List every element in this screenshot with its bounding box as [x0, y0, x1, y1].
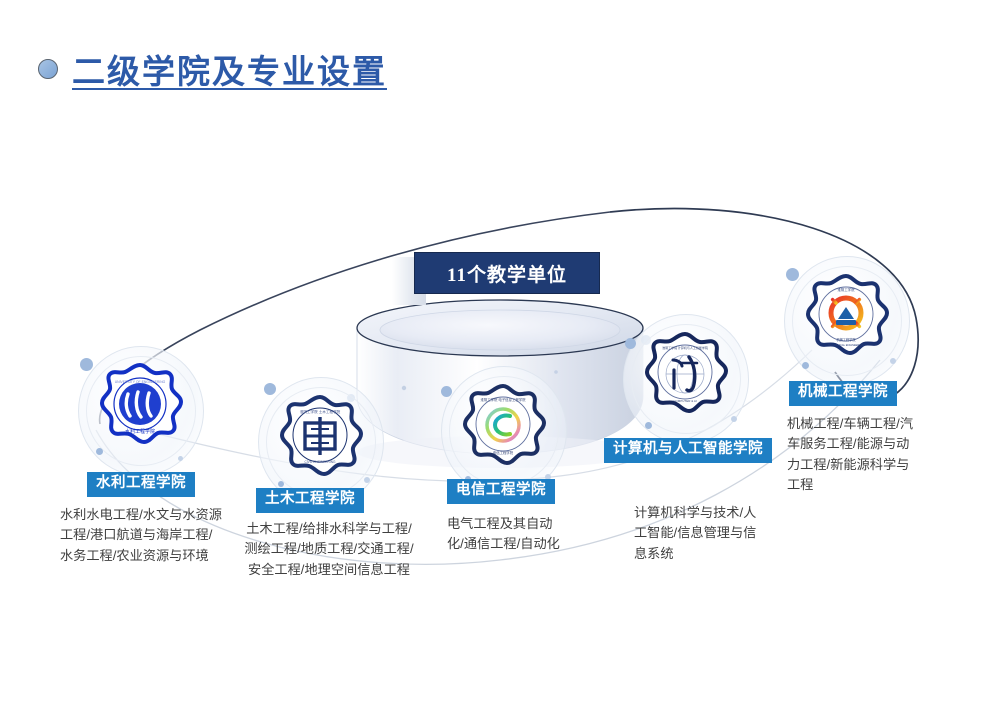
college-badge[interactable]: 机械工程学院: [789, 381, 897, 406]
svg-text:电信工程学院: 电信工程学院: [493, 450, 514, 455]
slide-canvas: 二级学院及专业设置: [0, 0, 1000, 707]
college-majors: 土木工程/给排水科学与工程/测绘工程/地质工程/交通工程/安全工程/地理空间信息…: [243, 519, 415, 580]
telecom-engineering-college-emblem-icon: 淮阴工学院 电子信息工程学院 电信工程学院: [455, 382, 551, 478]
college-badge[interactable]: 水利工程学院: [87, 472, 195, 497]
college-badge[interactable]: 计算机与人工智能学院: [604, 438, 772, 463]
computer-ai-college-emblem-icon: 淮阴工学院 计算机与人工智能学院 COMPUTER & AI: [637, 330, 733, 426]
emblem-computer-ai-college-emblem: 淮阴工学院 计算机与人工智能学院 COMPUTER & AI: [637, 330, 733, 426]
svg-text:淮阴工学院 电子信息工程学院: 淮阴工学院 电子信息工程学院: [480, 397, 526, 402]
emblem-mechanical-engineering-college-emblem: 淮阴工学院 机械工程学院 MECHANICAL ENGINEERING: [798, 272, 894, 368]
orbit-dot: [441, 386, 452, 397]
svg-text:COMPUTER & AI: COMPUTER & AI: [673, 399, 697, 403]
svg-text:MECHANICAL ENGINEERING: MECHANICAL ENGINEERING: [828, 343, 864, 347]
college-majors: 水利水电工程/水文与水资源工程/港口航道与海岸工程/水务工程/农业资源与环境: [60, 505, 222, 566]
orbit-dot: [625, 338, 636, 349]
emblem-civil-engineering-college-emblem: 淮阴工学院 土木工程学院 CIVIL ENGINEERING: [272, 393, 368, 489]
college-majors: 机械工程/车辆工程/汽车服务工程/能源与动力工程/新能源科学与工程: [787, 414, 917, 496]
college-badge[interactable]: 电信工程学院: [447, 479, 555, 504]
center-banner-label: 11个教学单位: [447, 260, 567, 287]
college-badge[interactable]: 土木工程学院: [256, 488, 364, 513]
svg-text:UNIVERSITY OF ENGINEERING: UNIVERSITY OF ENGINEERING: [115, 380, 166, 384]
svg-text:淮阴工学院 计算机与人工智能学院: 淮阴工学院 计算机与人工智能学院: [662, 345, 708, 350]
college-majors: 电气工程及其自动化/通信工程/自动化: [447, 514, 565, 555]
svg-text:淮阴工学院: 淮阴工学院: [838, 287, 856, 292]
svg-text:淮阴工学院 土木工程学院: 淮阴工学院 土木工程学院: [300, 409, 341, 414]
college-majors: 计算机科学与技术/人工智能/信息管理与信息系统: [634, 503, 762, 564]
svg-text:机械工程学院: 机械工程学院: [836, 337, 856, 342]
center-banner: 11个教学单位: [414, 252, 600, 294]
svg-text:CIVIL ENGINEERING: CIVIL ENGINEERING: [304, 460, 336, 464]
svg-text:水利工程学院: 水利工程学院: [125, 428, 155, 435]
civil-engineering-college-emblem-icon: 淮阴工学院 土木工程学院 CIVIL ENGINEERING: [272, 393, 368, 489]
mechanical-engineering-college-emblem-icon: 淮阴工学院 机械工程学院 MECHANICAL ENGINEERING: [798, 272, 894, 368]
emblem-water-conservancy-college-emblem: 水利工程学院 UNIVERSITY OF ENGINEERING: [92, 362, 188, 458]
emblem-telecom-engineering-college-emblem: 淮阴工学院 电子信息工程学院 电信工程学院: [455, 382, 551, 478]
water-conservancy-college-emblem-icon: 水利工程学院 UNIVERSITY OF ENGINEERING: [92, 362, 188, 458]
